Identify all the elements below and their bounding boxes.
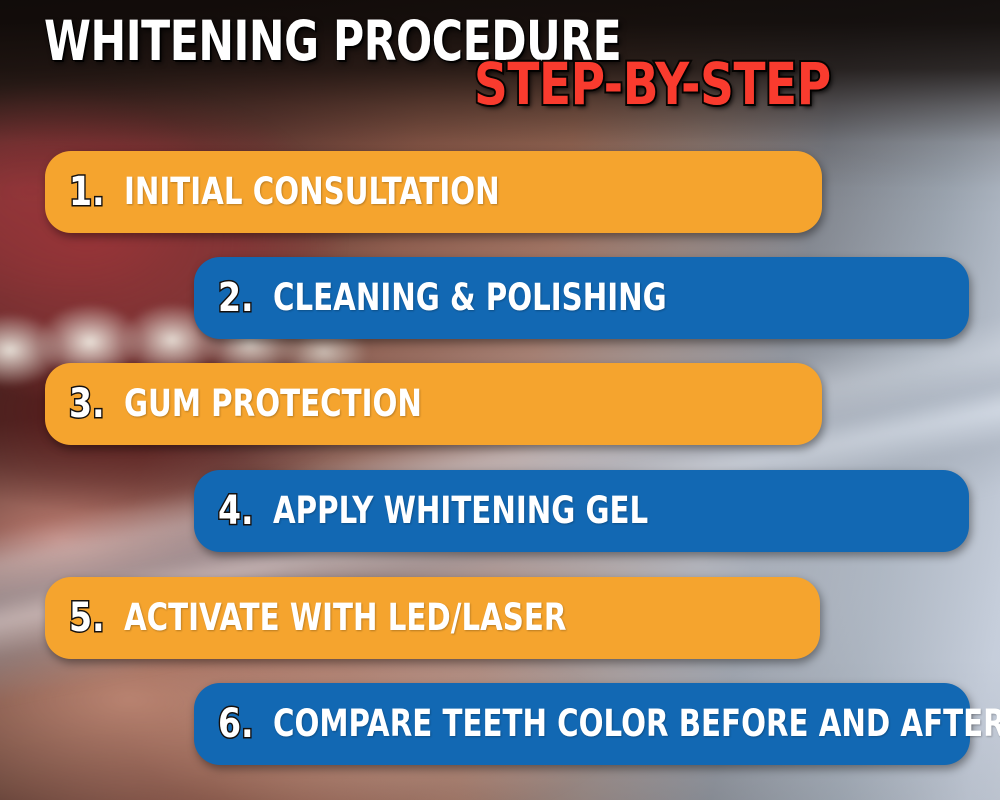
step-label-3: GUM PROTECTION	[124, 384, 422, 424]
step-bar-3[interactable]: 3.GUM PROTECTION	[45, 363, 822, 445]
step-number-4: 4.	[218, 490, 254, 532]
step-number-3: 3.	[69, 383, 105, 425]
step-label-6: COMPARE TEETH COLOR BEFORE AND AFTER	[273, 704, 1000, 744]
step-number-2: 2.	[218, 277, 254, 319]
step-label-2: CLEANING & POLISHING	[273, 278, 667, 318]
step-number-1: 1.	[69, 171, 105, 213]
step-bar-1[interactable]: 1.INITIAL CONSULTATION	[45, 151, 822, 233]
infographic-poster: WHITENING PROCEDURE STEP-BY-STEP 1.INITI…	[0, 0, 1000, 800]
step-number-6: 6.	[218, 703, 254, 745]
step-bar-4[interactable]: 4.APPLY WHITENING GEL	[194, 470, 969, 552]
step-label-1: INITIAL CONSULTATION	[124, 172, 500, 212]
step-list: 1.INITIAL CONSULTATION2.CLEANING & POLIS…	[0, 0, 1000, 800]
step-bar-2[interactable]: 2.CLEANING & POLISHING	[194, 257, 969, 339]
step-bar-5[interactable]: 5.ACTIVATE WITH LED/LASER	[45, 577, 820, 659]
step-number-5: 5.	[69, 597, 105, 639]
step-label-4: APPLY WHITENING GEL	[273, 491, 648, 531]
step-bar-6[interactable]: 6.COMPARE TEETH COLOR BEFORE AND AFTER	[194, 683, 970, 765]
step-label-5: ACTIVATE WITH LED/LASER	[124, 598, 566, 638]
